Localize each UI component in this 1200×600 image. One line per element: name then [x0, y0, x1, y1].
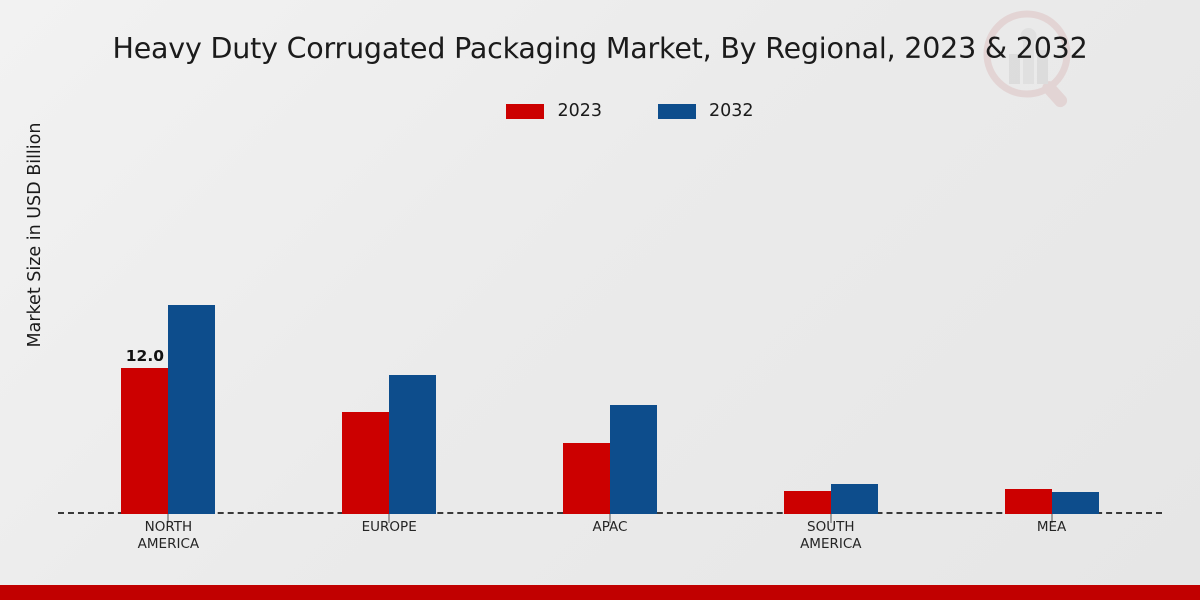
bar-group-mea	[941, 140, 1162, 514]
legend-item-2023[interactable]: 2023	[506, 103, 602, 121]
bar-group-europe	[279, 140, 500, 514]
x-axis-label-apac: APAC	[500, 519, 721, 553]
bar-group-north-america: 12.0	[58, 140, 279, 514]
legend-swatch-2032	[658, 104, 696, 119]
bar-2023-south-america[interactable]	[784, 491, 831, 514]
x-axis-label-line: AMERICA	[58, 536, 279, 553]
x-axis-label-line: AMERICA	[720, 536, 941, 553]
footer-accent-bar	[0, 585, 1200, 600]
bar-2023-mea[interactable]	[1005, 489, 1052, 514]
x-axis-label-south-america: SOUTH AMERICA	[720, 519, 941, 553]
x-axis-label-line: MEA	[941, 519, 1162, 536]
bar-2023-north-america[interactable]: 12.0	[121, 368, 168, 514]
chart-container: Heavy Duty Corrugated Packaging Market, …	[0, 0, 1200, 600]
bar-2032-north-america[interactable]	[168, 305, 215, 514]
legend-item-2032[interactable]: 2032	[658, 103, 754, 121]
legend-label-2032: 2032	[709, 103, 754, 121]
legend-label-2023: 2023	[557, 103, 602, 121]
legend-swatch-2023	[506, 104, 544, 119]
bar-data-label-north-america-2023: 12.0	[126, 347, 164, 365]
x-axis-label-mea: MEA	[941, 519, 1162, 553]
chart-legend: 2023 2032	[0, 103, 1200, 121]
plot-area: 12.0	[58, 140, 1162, 514]
x-axis-label-line: SOUTH	[720, 519, 941, 536]
x-axis-labels: NORTH AMERICA EUROPE APAC SOUTH AMERICA …	[58, 519, 1162, 553]
bar-2023-apac[interactable]	[563, 443, 610, 514]
bar-2032-mea[interactable]	[1052, 492, 1099, 514]
bar-2032-south-america[interactable]	[831, 484, 878, 514]
bar-2023-europe[interactable]	[342, 412, 389, 514]
page-title: Heavy Duty Corrugated Packaging Market, …	[0, 32, 1200, 65]
x-axis-label-europe: EUROPE	[279, 519, 500, 553]
bar-2032-apac[interactable]	[610, 405, 657, 514]
y-axis-title: Market Size in USD Billion	[25, 65, 45, 405]
x-axis-label-line: NORTH	[58, 519, 279, 536]
x-axis-label-north-america: NORTH AMERICA	[58, 519, 279, 553]
bar-2032-europe[interactable]	[389, 375, 436, 514]
bar-groups: 12.0	[58, 140, 1162, 514]
bar-group-apac	[500, 140, 721, 514]
x-axis-label-line: APAC	[500, 519, 721, 536]
x-axis-label-line: EUROPE	[279, 519, 500, 536]
bar-group-south-america	[720, 140, 941, 514]
